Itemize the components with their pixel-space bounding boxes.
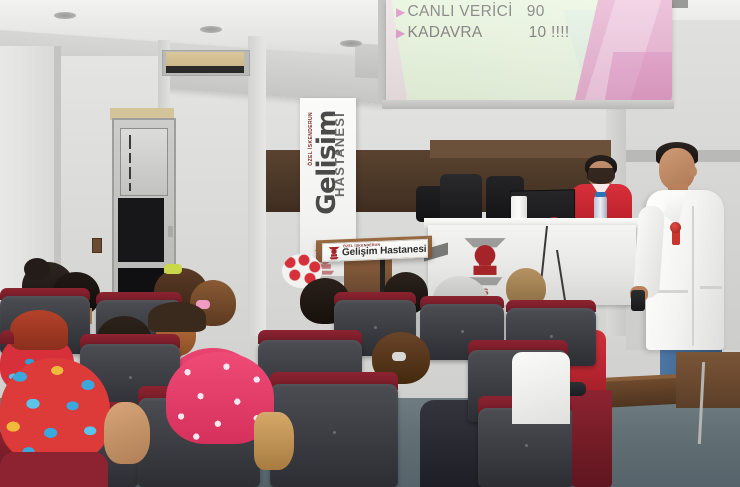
speaker-coat-pocket xyxy=(700,286,722,289)
ceiling-downlight-icon xyxy=(340,40,362,47)
background-table xyxy=(676,352,740,408)
audience-white-coat xyxy=(512,352,570,424)
door-glass-panel xyxy=(120,128,168,196)
wall-column-3 xyxy=(248,36,266,336)
desk-attendant-hair-back xyxy=(587,168,615,184)
light-switch[interactable] xyxy=(92,238,102,253)
seat-headrest xyxy=(0,330,14,344)
audience-hand xyxy=(104,402,150,464)
audience-hair-bun xyxy=(24,258,50,280)
audience-hair-front xyxy=(254,412,294,470)
door-handle[interactable] xyxy=(168,226,173,237)
speaker-ear xyxy=(689,166,697,177)
banner-secondary: HASTANESİ xyxy=(332,112,347,197)
hospital-logo-icon xyxy=(328,245,340,260)
audience-hair xyxy=(148,302,206,332)
window-glass-dark xyxy=(166,66,244,73)
audience-shoulder xyxy=(0,452,108,487)
audience-hair-clip xyxy=(164,264,182,274)
projector-screen-frame xyxy=(378,0,386,104)
screen-glare xyxy=(386,0,672,104)
presenter-remote[interactable] xyxy=(631,290,645,311)
water-bottle-cap xyxy=(595,192,606,197)
projector-screen-weight-bar xyxy=(382,100,674,109)
surgical-cap-print xyxy=(0,358,110,462)
ceiling-downlight-icon xyxy=(54,12,76,19)
audience-hair-red xyxy=(10,310,68,350)
office-chair xyxy=(440,174,482,220)
speaker-coat-seam xyxy=(692,206,694,346)
podium-title: Gelişim Hastanesi xyxy=(342,244,426,259)
hair-tie-icon xyxy=(392,352,406,361)
speaker-coat-pocket xyxy=(656,290,688,293)
ceiling-downlight-icon xyxy=(200,26,222,33)
speaker-logo-pin-icon xyxy=(670,222,681,233)
stage-wood-panel-upper xyxy=(430,140,611,158)
door-lower-panel xyxy=(118,198,164,262)
projection-screen: ▶ CANLI VERİCİ 90 ▶ KADAVRA 10 !!!! xyxy=(386,0,672,104)
conference-hall-photo: ▶ CANLI VERİCİ 90 ▶ KADAVRA 10 !!!! ÖZEL… xyxy=(0,0,740,487)
seat-side-panel xyxy=(572,390,612,487)
